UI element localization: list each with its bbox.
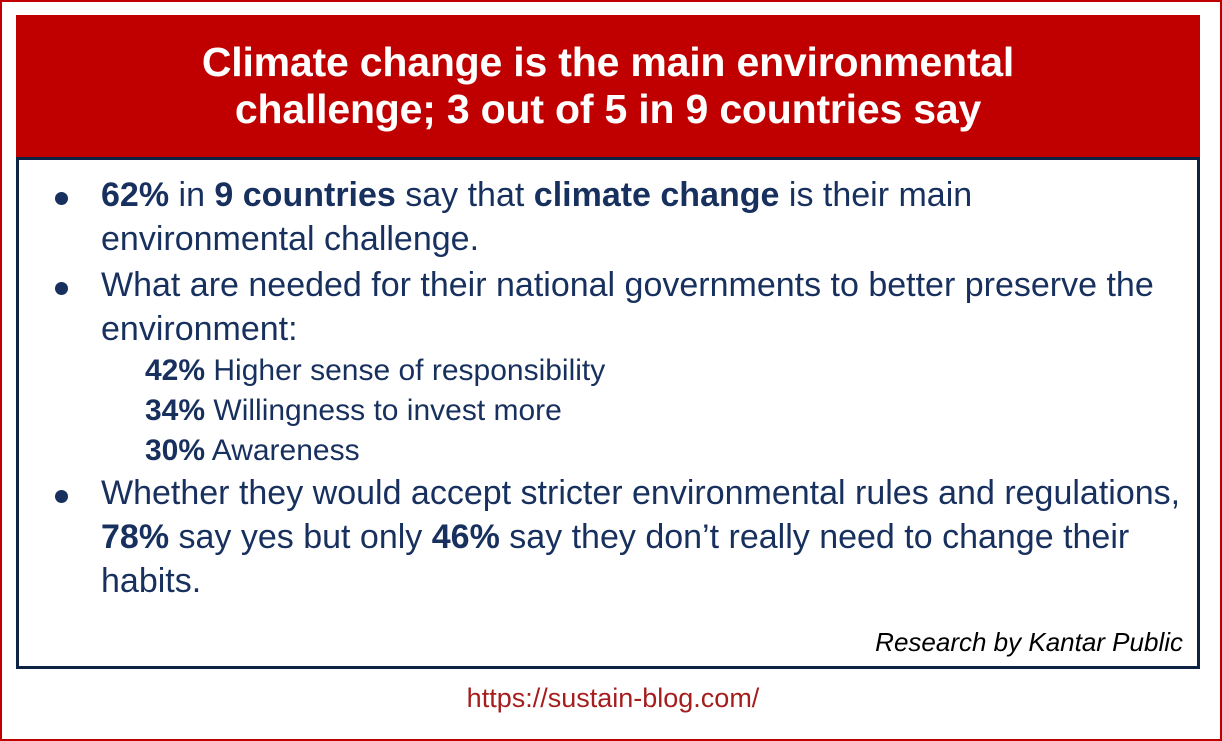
bullet-text-3: Whether they would accept stricter envir… (101, 474, 1180, 600)
sub-percent: 42% (145, 354, 205, 387)
source-url[interactable]: https://sustain-blog.com/ (2, 683, 1222, 714)
sub-label: Higher sense of responsibility (213, 354, 605, 387)
sub-list-item: 42% Higher sense of responsibility (145, 351, 1181, 391)
bullet-dot-icon (55, 282, 68, 295)
list-item: What are needed for their national gover… (31, 264, 1181, 471)
bullet-text-1: 62% in 9 countries say that climate chan… (101, 176, 972, 258)
header-banner: Climate change is the main environmental… (16, 15, 1200, 157)
bullet-dot-icon (55, 490, 68, 503)
page-title: Climate change is the main environmental… (178, 39, 1038, 132)
research-credit: Research by Kantar Public (875, 627, 1183, 658)
slide-container: Climate change is the main environmental… (0, 0, 1222, 741)
list-item: Whether they would accept stricter envir… (31, 472, 1181, 604)
sub-label: Awareness (212, 434, 360, 467)
list-item: 62% in 9 countries say that climate chan… (31, 174, 1181, 262)
sub-percent: 34% (145, 394, 205, 427)
bullet-dot-icon (55, 192, 68, 205)
sub-list: 42% Higher sense of responsibility 34% W… (101, 351, 1181, 470)
bullet-text-2: What are needed for their national gover… (101, 266, 1154, 348)
sub-label: Willingness to invest more (213, 394, 561, 427)
sub-list-item: 30% Awareness (145, 431, 1181, 471)
sub-list-item: 34% Willingness to invest more (145, 391, 1181, 431)
bullet-list: 62% in 9 countries say that climate chan… (19, 160, 1197, 604)
sub-percent: 30% (145, 434, 205, 467)
content-panel: 62% in 9 countries say that climate chan… (16, 157, 1200, 669)
